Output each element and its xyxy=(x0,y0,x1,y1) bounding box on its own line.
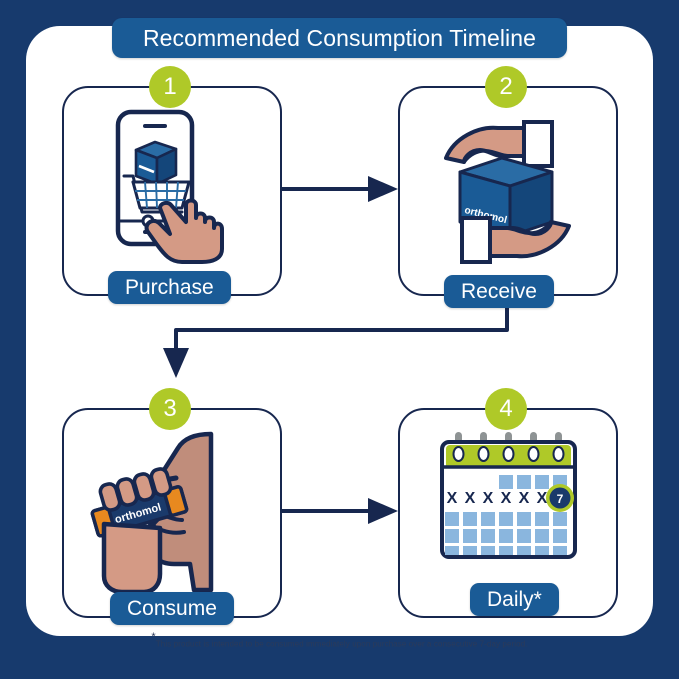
step-number-badge-3: 3 xyxy=(149,388,191,430)
infographic-root: Recommended Consumption Timeline xyxy=(0,0,679,679)
step-label-consume[interactable]: Consume xyxy=(110,592,234,625)
step-card-purchase[interactable] xyxy=(62,86,282,296)
footnote-text: This product is intended to be consumed … xyxy=(156,639,528,648)
step-number-badge-2: 2 xyxy=(485,66,527,108)
step-number-3: 3 xyxy=(163,395,176,423)
step-number-badge-1: 1 xyxy=(149,66,191,108)
step-label-purchase-text: Purchase xyxy=(125,276,214,300)
step-card-receive[interactable] xyxy=(398,86,618,296)
step-label-purchase[interactable]: Purchase xyxy=(108,271,231,304)
step-number-2: 2 xyxy=(499,73,512,101)
step-label-consume-text: Consume xyxy=(127,597,217,621)
step-label-daily[interactable]: Daily* xyxy=(470,583,559,616)
page-title-text: Recommended Consumption Timeline xyxy=(143,25,536,52)
step-number-1: 1 xyxy=(163,73,176,101)
step-number-4: 4 xyxy=(499,395,512,423)
footnote: *This product is intended to be consumed… xyxy=(0,631,679,651)
step-label-daily-text: Daily* xyxy=(487,588,542,612)
step-card-consume[interactable] xyxy=(62,408,282,618)
step-label-receive[interactable]: Receive xyxy=(444,275,554,308)
page-title: Recommended Consumption Timeline xyxy=(112,18,567,58)
step-label-receive-text: Receive xyxy=(461,280,537,304)
step-number-badge-4: 4 xyxy=(485,388,527,430)
